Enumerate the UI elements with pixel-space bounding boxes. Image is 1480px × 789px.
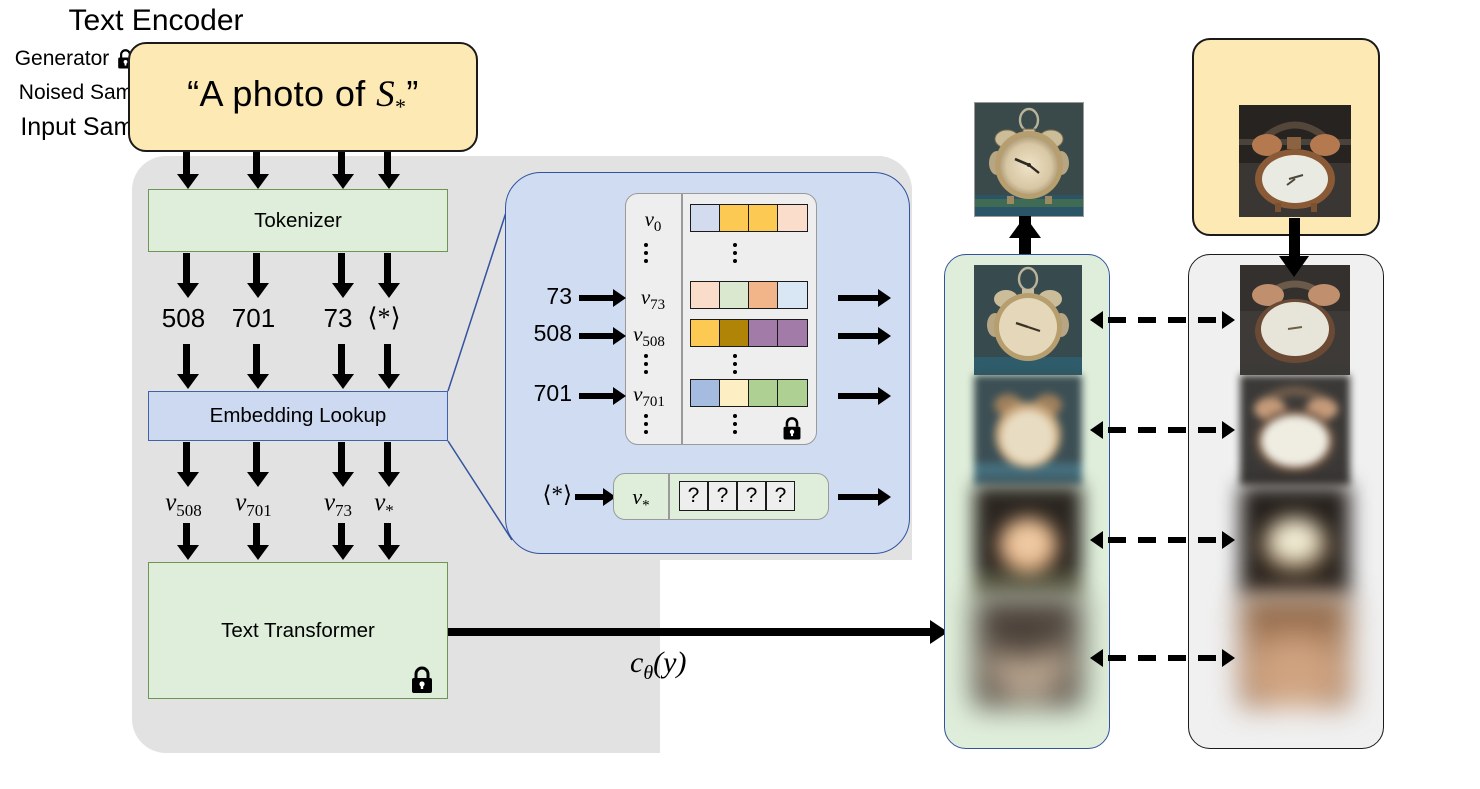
arrow-tok-emb-4: [384, 344, 391, 376]
swatch: [749, 320, 778, 346]
vdots: [644, 259, 648, 263]
arrow-head-8: [378, 283, 400, 298]
arrow-head-15: [332, 472, 354, 487]
embedding-label-v508: v508: [146, 489, 221, 521]
arrow-conditioning: [448, 628, 940, 636]
vdots: [733, 422, 737, 426]
arrow-input-noised: [1289, 218, 1300, 260]
arrow-out-508: [838, 333, 880, 339]
swatch: [778, 320, 807, 346]
learned-cell-4[interactable]: ?: [766, 481, 795, 511]
input-sample-image: [1239, 105, 1351, 217]
arrow-out-vstar: [838, 494, 880, 500]
arrow-head-17: [177, 545, 199, 560]
arrow-v-tt-1: [183, 523, 190, 547]
lock-icon: [781, 416, 803, 441]
swatch: [691, 320, 720, 346]
arrow-head-26: [878, 387, 891, 405]
arrow-tok-4: [384, 253, 391, 285]
arrow-head-38: [1222, 649, 1235, 667]
generator-step-image-4: [974, 595, 1082, 707]
arrow-head-37: [1090, 649, 1103, 667]
arrow-in-701: [579, 393, 615, 399]
arrow-head-35: [1090, 531, 1103, 549]
arrow-head-10: [247, 374, 269, 389]
token-label-star: ⟨*⟩: [355, 303, 413, 333]
arrow-head-39: [1279, 256, 1309, 277]
table-row-swatches-v0: [690, 204, 808, 232]
vdots: [733, 414, 737, 418]
vdots: [644, 422, 648, 426]
prompt-text: “A photo of S*”: [187, 73, 419, 120]
v-base: v: [645, 207, 654, 231]
detail-input-token-73: 73: [520, 283, 572, 310]
vdots: [644, 243, 648, 247]
generator-step-image-3: [974, 485, 1082, 595]
generator-label: Generator: [15, 47, 110, 71]
vdots: [733, 251, 737, 255]
vdots: [644, 414, 648, 418]
swatch: [778, 282, 807, 308]
swatch: [749, 282, 778, 308]
token-label-701: 701: [216, 303, 291, 334]
arrow-head-7: [332, 283, 354, 298]
arrow-head-1: [177, 174, 199, 189]
v-base: v: [324, 489, 335, 516]
dashed-connector-2: [1108, 427, 1228, 433]
v-sub: 73: [650, 297, 665, 313]
detail-input-token-508: 508: [508, 320, 572, 347]
learned-row-divider: [668, 474, 670, 519]
vdots: [733, 259, 737, 263]
v-base: v: [374, 489, 385, 516]
c-arg: (y): [653, 646, 686, 679]
arrow-tok-emb-1: [183, 344, 190, 376]
arrow-in-73: [579, 295, 615, 301]
prompt-box[interactable]: “A photo of S*”: [128, 42, 478, 152]
vdots: [733, 362, 737, 366]
embedding-label-vstar: v*: [356, 489, 412, 521]
arrow-v-tt-2: [253, 523, 260, 547]
text-transformer-label: Text Transformer: [221, 619, 375, 643]
vdots: [644, 370, 648, 374]
vdots: [733, 430, 737, 434]
vdots: [733, 370, 737, 374]
v-sub: 73: [335, 501, 352, 520]
vdots: [644, 362, 648, 366]
vdots: [733, 243, 737, 247]
table-row-swatches-v73: [690, 281, 808, 309]
swatch: [720, 320, 749, 346]
v-sub: 701: [246, 501, 272, 520]
swatch: [778, 380, 807, 406]
c-base: c: [630, 646, 643, 679]
v-base: v: [632, 484, 642, 509]
embedding-lookup-label: Embedding Lookup: [210, 404, 387, 428]
arrow-prompt-tokenizer-3: [338, 152, 345, 176]
arrow-head-12: [378, 374, 400, 389]
learned-cell-2[interactable]: ?: [708, 481, 737, 511]
arrow-head-18: [247, 545, 269, 560]
arrow-prompt-tokenizer-4: [384, 152, 391, 176]
swatch: [720, 380, 749, 406]
arrow-emb-v-2: [253, 442, 260, 474]
embedding-label-v701: v701: [216, 489, 291, 521]
table-row-swatches-v701: [690, 379, 808, 407]
vdots: [644, 430, 648, 434]
arrow-head-22: [613, 327, 626, 345]
arrow-head-23: [613, 387, 626, 405]
generator-step-image-2: [974, 375, 1082, 485]
arrow-head-2: [247, 174, 269, 189]
table-row-swatches-v508: [690, 319, 808, 347]
arrow-prompt-tokenizer-2: [253, 152, 260, 176]
arrow-head-11: [332, 374, 354, 389]
v-base: v: [641, 285, 650, 309]
v-base: v: [165, 489, 176, 516]
arrow-head-9: [177, 374, 199, 389]
arrow-tok-emb-3: [338, 344, 345, 376]
swatch: [691, 380, 720, 406]
v-base: v: [633, 382, 642, 406]
tokenizer-label: Tokenizer: [254, 209, 342, 233]
arrow-tok-3: [338, 253, 345, 285]
learned-row-label: v*: [614, 484, 668, 514]
vdots: [644, 354, 648, 358]
arrow-emb-v-3: [338, 442, 345, 474]
arrow-head-6: [247, 283, 269, 298]
arrow-head-13: [177, 472, 199, 487]
arrow-tok-1: [183, 253, 190, 285]
generator-step-image-1: [974, 265, 1082, 375]
noised-step-image-3: [1240, 485, 1350, 595]
v-base: v: [633, 322, 642, 346]
v-sub: 508: [642, 334, 665, 350]
lock-icon: [409, 666, 435, 694]
arrow-prompt-tokenizer-1: [183, 152, 190, 176]
swatch: [691, 282, 720, 308]
tokenizer-block[interactable]: Tokenizer: [148, 189, 448, 252]
vdots: [733, 354, 737, 358]
arrow-tok-emb-2: [253, 344, 260, 376]
table-row-label-v508: v508: [622, 322, 676, 351]
c-sub: θ: [643, 662, 653, 684]
detail-input-token-701: 701: [508, 380, 572, 407]
arrow-head-4: [378, 174, 400, 189]
dashed-connector-4: [1108, 655, 1228, 661]
embedding-lookup-block[interactable]: Embedding Lookup: [148, 391, 448, 441]
table-row-label-v701: v701: [622, 382, 676, 411]
arrow-head-30: [1009, 216, 1041, 238]
arrow-emb-v-4: [384, 442, 391, 474]
arrow-out-73: [838, 295, 880, 301]
arrow-head-16: [378, 472, 400, 487]
learned-cell-3[interactable]: ?: [737, 481, 766, 511]
swatch: [720, 205, 749, 231]
text-transformer-block[interactable]: Text Transformer: [148, 562, 448, 699]
swatch: [778, 205, 807, 231]
swatch: [749, 380, 778, 406]
table-row-label-v73: v73: [626, 285, 680, 314]
arrow-head-34: [1222, 421, 1235, 439]
arrow-head-33: [1090, 421, 1103, 439]
arrow-head-31: [1090, 311, 1103, 329]
noised-step-image-2: [1240, 375, 1350, 485]
arrow-v-tt-4: [384, 523, 391, 547]
arrow-head-20: [378, 545, 400, 560]
v-sub: 701: [642, 394, 665, 410]
dashed-connector-3: [1108, 537, 1228, 543]
swatch: [749, 205, 778, 231]
arrow-in-star: [575, 494, 605, 500]
arrow-out-701: [838, 393, 880, 399]
arrow-head-21: [613, 289, 626, 307]
embedding-table-divider: [681, 194, 683, 444]
arrow-head-19: [332, 545, 354, 560]
arrow-tok-2: [253, 253, 260, 285]
v-sub: 508: [176, 501, 202, 520]
table-row-label-v0: v0: [626, 207, 680, 236]
dashed-connector-1: [1108, 317, 1228, 323]
swatch: [720, 282, 749, 308]
arrow-head-3: [332, 174, 354, 189]
arrow-head-36: [1222, 531, 1235, 549]
noised-step-image-4: [1240, 595, 1350, 707]
v-sub: 0: [654, 219, 662, 235]
arrow-head-25: [878, 327, 891, 345]
arrow-head-32: [1222, 311, 1235, 329]
learned-cell-1[interactable]: ?: [679, 481, 708, 511]
v-sub: *: [385, 501, 394, 520]
arrow-v-tt-3: [338, 523, 345, 547]
v-sub: *: [642, 497, 650, 513]
arrow-head-24: [878, 289, 891, 307]
detail-input-token-star: ⟨*⟩: [516, 482, 572, 508]
text-encoder-label: Text Encoder: [0, 0, 312, 42]
generated-clock-image: [974, 102, 1084, 217]
arrow-emb-v-1: [183, 442, 190, 474]
arrow-head-14: [247, 472, 269, 487]
noised-step-image-1: [1240, 265, 1350, 375]
vdots: [644, 251, 648, 255]
arrow-in-508: [579, 333, 615, 339]
v-base: v: [235, 489, 246, 516]
token-label-508: 508: [146, 303, 221, 334]
swatch: [691, 205, 720, 231]
arrow-head-27: [878, 488, 891, 506]
panel-notch: [660, 560, 920, 760]
conditioning-label: cθ(y): [630, 646, 686, 685]
arrow-head-5: [177, 283, 199, 298]
